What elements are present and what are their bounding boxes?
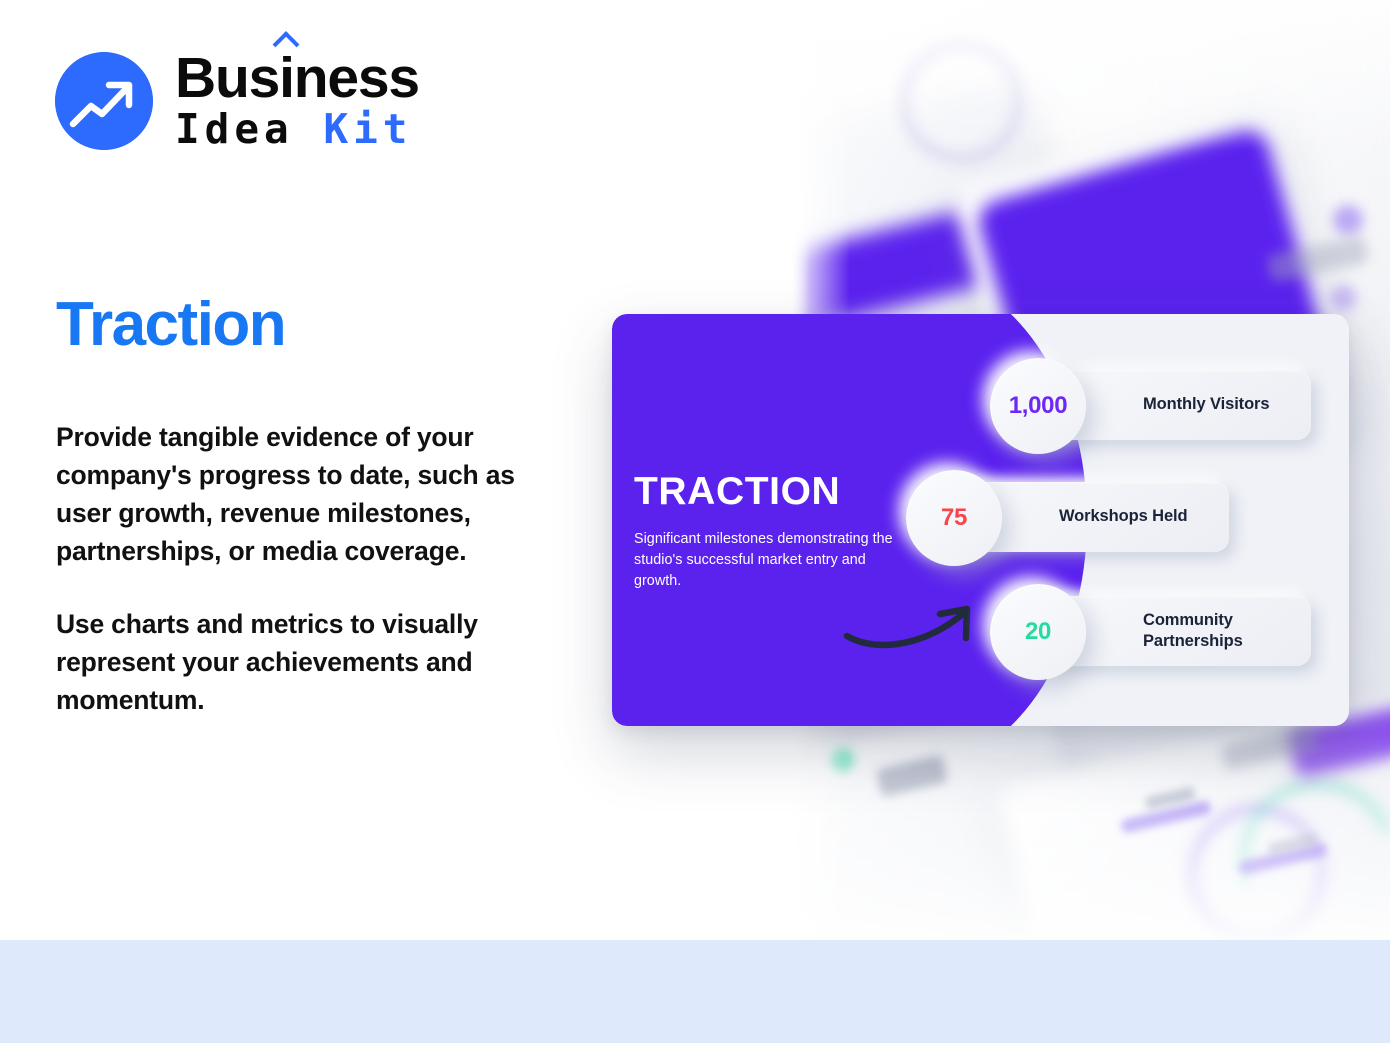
metric-label: Monthly Visitors [1143, 394, 1269, 415]
bg-dot-decoration [830, 748, 854, 772]
brand-wordmark: Business Idea Kit [175, 52, 419, 149]
slide-subtitle: Significant milestones demonstrating the… [634, 529, 902, 592]
brand-name-line1: Business [175, 52, 419, 104]
brand-name-idea: Idea [175, 105, 294, 153]
bg-dot-decoration [1333, 205, 1363, 235]
brand-name-line2: Idea Kit [175, 109, 419, 150]
metric-value-circle: 20 [990, 584, 1086, 680]
brand-logo[interactable]: Business Idea Kit [55, 52, 419, 150]
page-title: Traction [56, 294, 285, 356]
trending-up-arrow-icon [55, 52, 153, 150]
bottom-accent-bar [0, 940, 1390, 1043]
metric-label: Workshops Held [1059, 506, 1187, 527]
brand-name-kit: Kit [323, 105, 412, 153]
metric-value-circle: 75 [906, 470, 1002, 566]
page-body-copy: Provide tangible evidence of your compan… [56, 418, 566, 719]
slide-text-block: TRACTION Significant milestones demonstr… [634, 472, 902, 592]
traction-slide-card[interactable]: TRACTION Significant milestones demonstr… [612, 314, 1349, 726]
bg-dot-decoration [1330, 285, 1356, 311]
metric-value: 20 [1025, 618, 1051, 646]
metric-value: 75 [941, 504, 967, 532]
metrics-list: Monthly Visitors 1,000 Workshops Held 75… [972, 358, 1332, 698]
metric-value-circle: 1,000 [990, 358, 1086, 454]
body-paragraph: Use charts and metrics to visually repre… [56, 605, 566, 719]
body-paragraph: Provide tangible evidence of your compan… [56, 418, 566, 571]
metric-label: Community Partnerships [1143, 610, 1243, 652]
slide-page: Business Idea Kit Traction Provide tangi… [0, 0, 1390, 1043]
slide-heading: TRACTION [634, 472, 902, 511]
metric-value: 1,000 [1009, 392, 1068, 420]
